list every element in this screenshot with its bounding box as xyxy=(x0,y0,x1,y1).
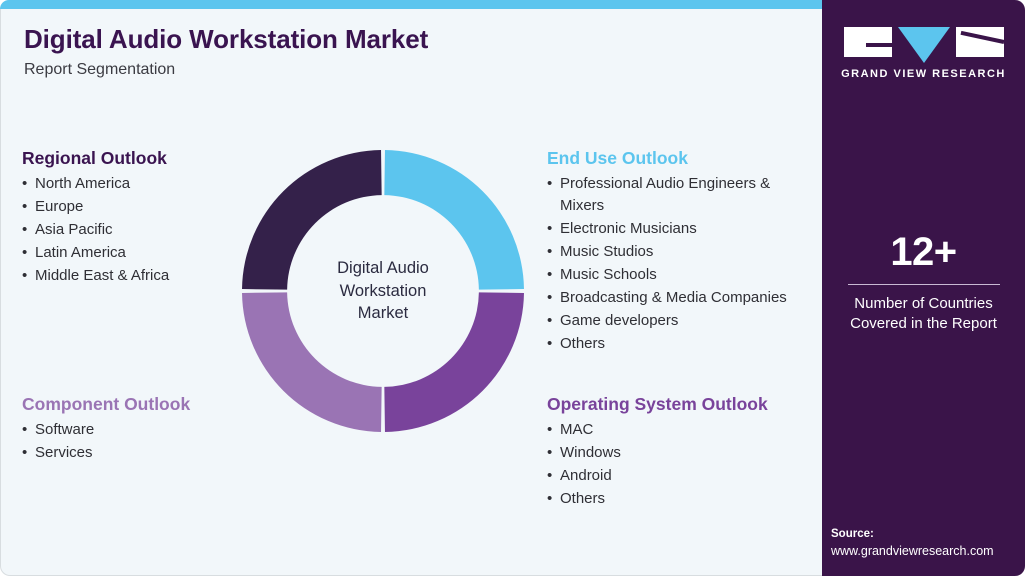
donut-segment xyxy=(384,150,524,290)
logo-g-icon xyxy=(844,27,892,57)
section-heading-operating-system: Operating System Outlook xyxy=(547,394,812,416)
bullet-icon: • xyxy=(22,419,27,441)
section-list-component: •Software•Services xyxy=(22,419,267,464)
side-panel: GRAND VIEW RESEARCH 12+ Number of Countr… xyxy=(822,0,1025,576)
bullet-icon: • xyxy=(22,242,27,264)
list-item: •North America xyxy=(22,173,267,195)
bullet-icon: • xyxy=(22,265,27,287)
section-list-operating-system: •MAC•Windows•Android•Others xyxy=(547,419,812,510)
logo-r-icon xyxy=(956,27,1004,57)
list-item-label: Others xyxy=(560,333,812,355)
list-item: •Others xyxy=(547,333,812,355)
section-heading-component: Component Outlook xyxy=(22,394,267,416)
list-item-label: Windows xyxy=(560,442,812,464)
segmentation-donut-chart: Digital Audio Workstation Market xyxy=(242,150,524,432)
list-item: •Music Schools xyxy=(547,264,812,286)
bullet-icon: • xyxy=(547,241,552,263)
section-list-end-use: •Professional Audio Engineers & Mixers•E… xyxy=(547,173,812,355)
list-item: •Middle East & Africa xyxy=(22,265,267,287)
section-end-use-outlook: End Use Outlook •Professional Audio Engi… xyxy=(547,148,812,356)
section-heading-regional: Regional Outlook xyxy=(22,148,267,170)
list-item: •Others xyxy=(547,488,812,510)
list-item-label: Others xyxy=(560,488,812,510)
list-item: •Broadcasting & Media Companies xyxy=(547,287,812,309)
bullet-icon: • xyxy=(547,442,552,464)
list-item-label: North America xyxy=(35,173,267,195)
list-item-label: Electronic Musicians xyxy=(560,218,812,240)
brand-logo: GRAND VIEW RESEARCH xyxy=(822,27,1025,80)
list-item-label: Music Studios xyxy=(560,241,812,263)
bullet-icon: • xyxy=(547,419,552,441)
list-item-label: Game developers xyxy=(560,310,812,332)
logo-v-triangle-icon xyxy=(898,27,950,63)
bullet-icon: • xyxy=(547,287,552,309)
list-item-label: Middle East & Africa xyxy=(35,265,267,287)
section-operating-system-outlook: Operating System Outlook •MAC•Windows•An… xyxy=(547,394,812,511)
logo-marks xyxy=(822,27,1025,57)
source-url[interactable]: www.grandviewresearch.com xyxy=(831,543,1017,561)
bullet-icon: • xyxy=(22,442,27,464)
list-item: •Android xyxy=(547,465,812,487)
section-heading-end-use: End Use Outlook xyxy=(547,148,812,170)
list-item-label: Asia Pacific xyxy=(35,219,267,241)
bullet-icon: • xyxy=(22,173,27,195)
list-item: •Latin America xyxy=(22,242,267,264)
list-item: •MAC xyxy=(547,419,812,441)
header: Digital Audio Workstation Market Report … xyxy=(24,25,428,79)
stat-label-line-2: Covered in the Report xyxy=(822,314,1025,334)
donut-segment-group xyxy=(242,150,524,432)
bullet-icon: • xyxy=(547,465,552,487)
list-item: •Electronic Musicians xyxy=(547,218,812,240)
list-item-label: Latin America xyxy=(35,242,267,264)
list-item-label: Android xyxy=(560,465,812,487)
list-item: •Asia Pacific xyxy=(22,219,267,241)
donut-segment xyxy=(384,292,524,432)
bullet-icon: • xyxy=(547,310,552,332)
bullet-icon: • xyxy=(547,173,552,195)
page-subtitle: Report Segmentation xyxy=(24,60,428,79)
list-item-label: Europe xyxy=(35,196,267,218)
list-item: •Europe xyxy=(22,196,267,218)
bullet-icon: • xyxy=(547,488,552,510)
list-item: •Services xyxy=(22,442,267,464)
infographic-root: Digital Audio Workstation Market Report … xyxy=(0,0,1025,576)
bullet-icon: • xyxy=(22,219,27,241)
bullet-icon: • xyxy=(547,218,552,240)
list-item-label: Software xyxy=(35,419,267,441)
list-item: •Software xyxy=(22,419,267,441)
source-label: Source: xyxy=(831,526,1017,542)
top-accent-bar xyxy=(0,0,825,9)
section-regional-outlook: Regional Outlook •North America•Europe•A… xyxy=(22,148,267,288)
list-item: •Windows xyxy=(547,442,812,464)
source-block: Source: www.grandviewresearch.com xyxy=(822,526,1025,560)
stat-countries-covered: 12+ Number of Countries Covered in the R… xyxy=(822,232,1025,334)
stat-value: 12+ xyxy=(822,232,1025,272)
bullet-icon: • xyxy=(547,264,552,286)
logo-wordmark: GRAND VIEW RESEARCH xyxy=(822,68,1025,80)
list-item-label: Music Schools xyxy=(560,264,812,286)
page-title: Digital Audio Workstation Market xyxy=(24,25,428,55)
bullet-icon: • xyxy=(547,333,552,355)
stat-label-line-1: Number of Countries xyxy=(822,294,1025,314)
list-item: •Game developers xyxy=(547,310,812,332)
list-item: •Music Studios xyxy=(547,241,812,263)
bullet-icon: • xyxy=(22,196,27,218)
list-item-label: MAC xyxy=(560,419,812,441)
section-list-regional: •North America•Europe•Asia Pacific•Latin… xyxy=(22,173,267,287)
list-item-label: Services xyxy=(35,442,267,464)
stat-divider xyxy=(848,284,1000,285)
stat-label: Number of Countries Covered in the Repor… xyxy=(822,294,1025,334)
donut-svg xyxy=(242,150,524,432)
list-item-label: Professional Audio Engineers & Mixers xyxy=(560,173,812,217)
section-component-outlook: Component Outlook •Software•Services xyxy=(22,394,267,465)
list-item-label: Broadcasting & Media Companies xyxy=(560,287,812,309)
list-item: •Professional Audio Engineers & Mixers xyxy=(547,173,812,217)
